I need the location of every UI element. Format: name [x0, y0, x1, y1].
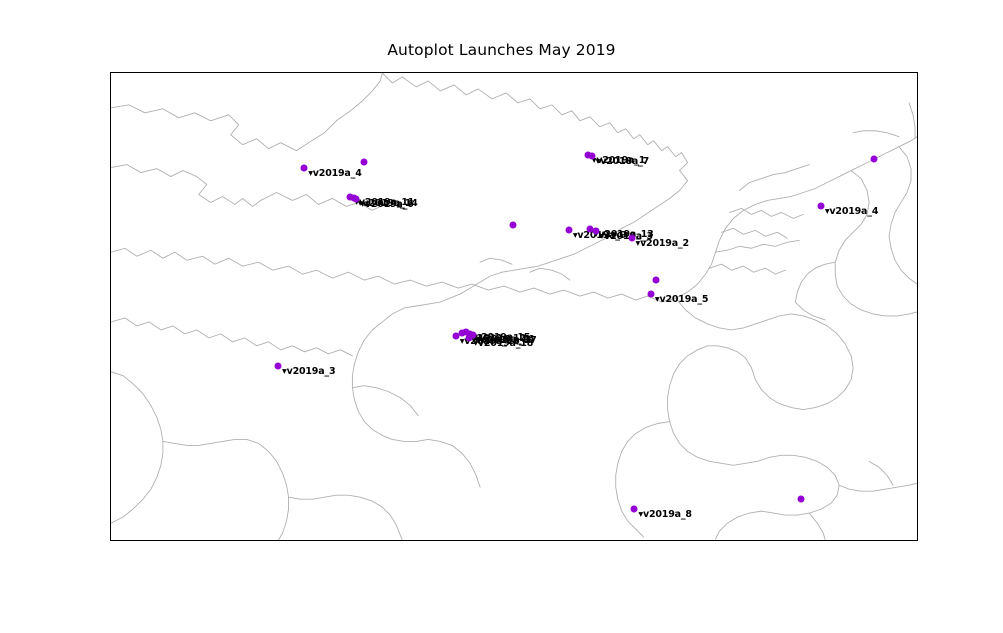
data-point[interactable] [592, 228, 599, 235]
data-point[interactable] [353, 195, 360, 202]
basemap-coastlines [111, 73, 917, 540]
data-point[interactable] [360, 158, 367, 165]
y-axis-minor-tick [110, 419, 111, 420]
data-point[interactable] [466, 334, 473, 341]
data-point[interactable] [565, 226, 572, 233]
x-axis-tick [262, 540, 263, 541]
x-axis-tick [650, 540, 651, 541]
y-axis-tick [110, 73, 111, 74]
y-axis-minor-tick [110, 320, 111, 321]
x-axis-minor-tick [699, 540, 700, 541]
data-point[interactable] [817, 203, 824, 210]
data-point[interactable] [871, 155, 878, 162]
data-point[interactable] [628, 235, 635, 242]
x-axis-minor-tick [796, 540, 797, 541]
y-axis-tick [110, 172, 111, 173]
data-point-label: ▾v2019a_18 [473, 338, 533, 349]
x-axis-tick [553, 540, 554, 541]
y-axis-tick [110, 271, 111, 272]
x-axis-minor-tick [504, 540, 505, 541]
figure-canvas: Autoplot Launches May 2019 [0, 0, 1003, 633]
data-point[interactable] [588, 153, 595, 160]
data-point[interactable] [301, 164, 308, 171]
data-point-label: ▾v2018a_7 [596, 156, 649, 167]
data-point[interactable] [631, 505, 638, 512]
x-axis-tick [456, 540, 457, 541]
y-axis-tick [110, 468, 111, 469]
x-axis-minor-tick [893, 540, 894, 541]
x-axis-minor-tick [407, 540, 408, 541]
data-point[interactable] [647, 291, 654, 298]
data-point-label: ▾v2019a_2 [636, 238, 689, 249]
y-axis-minor-tick [110, 122, 111, 123]
data-point-label: ▾v2019a_4 [308, 168, 361, 179]
data-point-label: ▾v2019a_4 [825, 207, 878, 218]
data-point[interactable] [275, 362, 282, 369]
y-axis-minor-tick [110, 518, 111, 519]
x-axis-tick [844, 540, 845, 541]
y-axis-tick [110, 370, 111, 371]
x-axis-tick [359, 540, 360, 541]
y-axis-minor-tick [110, 221, 111, 222]
x-axis-minor-tick [213, 540, 214, 541]
page-title: Autoplot Launches May 2019 [0, 41, 1003, 59]
data-point-label: ▾v2019a_8 [638, 509, 691, 520]
data-point[interactable] [510, 222, 517, 229]
x-axis-minor-tick [601, 540, 602, 541]
x-axis-minor-tick [310, 540, 311, 541]
data-point[interactable] [653, 276, 660, 283]
x-axis-tick [164, 540, 165, 541]
data-point-label: ▾v2019a_3 [282, 366, 335, 377]
x-axis-minor-tick [116, 540, 117, 541]
data-point[interactable] [798, 495, 805, 502]
data-point-label: ▾v2019a_6 [360, 199, 413, 210]
data-point-label: ▾v2019a_5 [655, 295, 708, 306]
plot-area: 4648505254-4-20246810▾v2019a_4▾v2019a_11… [110, 72, 918, 541]
x-axis-tick [747, 540, 748, 541]
